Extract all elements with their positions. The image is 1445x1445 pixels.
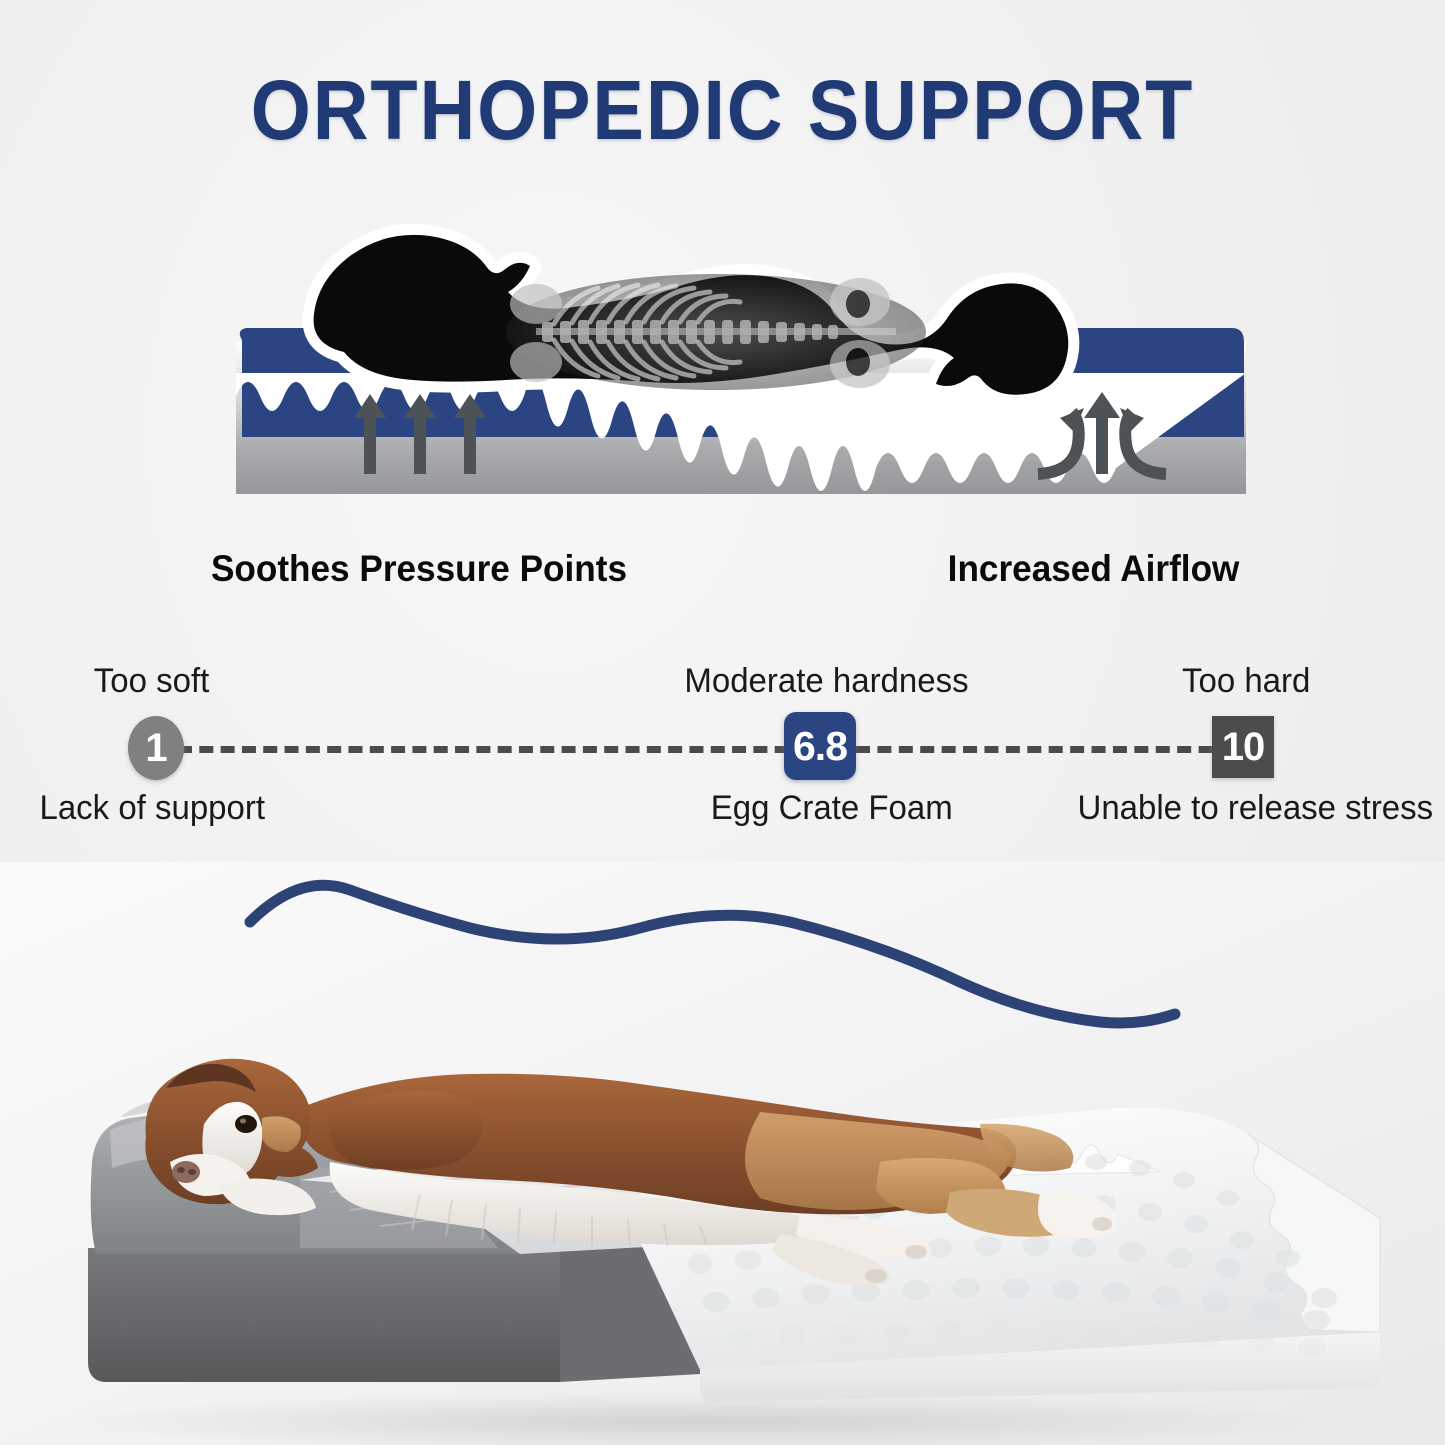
up-arrows-icon — [354, 394, 486, 474]
foam-cross-section-diagram — [236, 222, 1246, 522]
scale-bottom-label-unable-release-stress: Unable to release stress — [1077, 789, 1433, 828]
dog-xray-silhouette — [314, 235, 1069, 395]
product-photo — [0, 862, 1445, 1445]
page-title: ORTHOPEDIC SUPPORT — [58, 62, 1387, 159]
scale-node-1-value: 1 — [128, 716, 184, 780]
scale-top-label-too-hard: Too hard — [1182, 662, 1310, 701]
feature-label-airflow: Increased Airflow — [948, 548, 1240, 590]
scale-top-label-too-soft: Too soft — [94, 662, 210, 701]
scale-dashed-line-right — [856, 746, 1234, 753]
scale-node-1: 1 — [128, 716, 184, 780]
xray-skeleton — [506, 274, 926, 390]
bed-base — [88, 1238, 700, 1382]
scale-node-6-8: 6.8 — [784, 712, 856, 780]
scale-dashed-line-left — [178, 746, 810, 753]
scale-top-label-moderate: Moderate hardness — [684, 662, 968, 701]
scale-node-10-value: 10 — [1212, 716, 1274, 778]
scale-node-10: 10 — [1212, 716, 1274, 778]
feature-label-pressure-points: Soothes Pressure Points — [211, 548, 627, 590]
scale-node-6-8-value: 6.8 — [784, 712, 856, 780]
scale-bottom-label-egg-crate-foam: Egg Crate Foam — [711, 789, 953, 828]
scale-bottom-label-lack-of-support: Lack of support — [39, 789, 265, 828]
